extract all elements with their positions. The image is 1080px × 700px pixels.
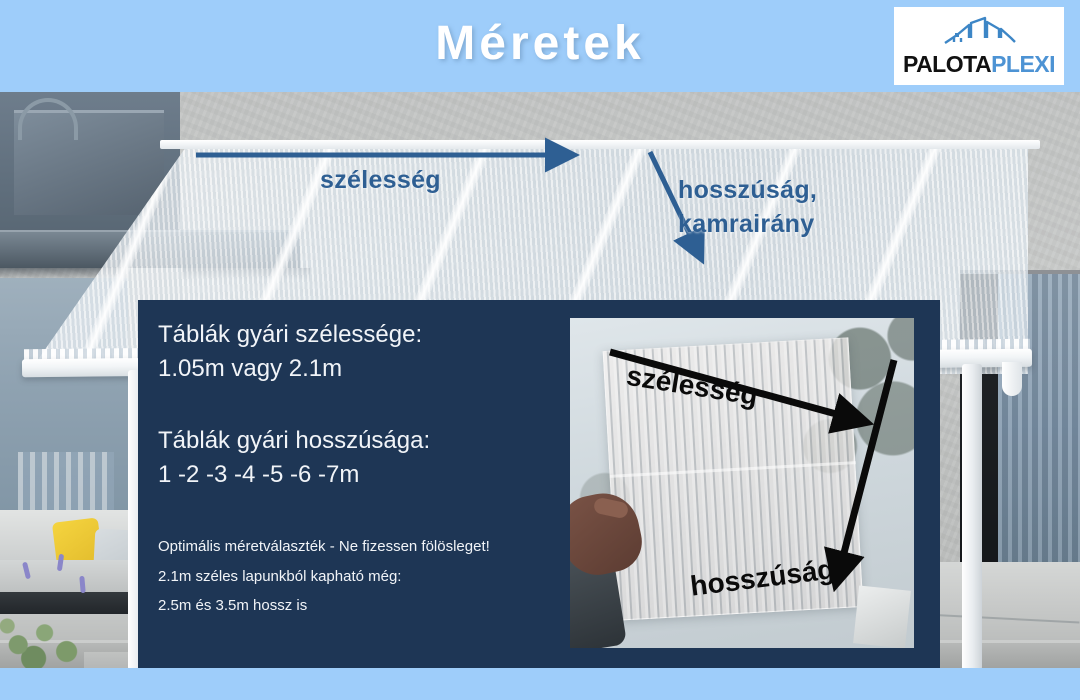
length-annotation-line1: hosszúság,	[678, 174, 817, 208]
footer-bar	[0, 668, 1080, 700]
logo-wordmark: PALOTAPLEXI	[903, 53, 1055, 76]
length-annotation-line2: kamrairány	[678, 208, 817, 242]
brand-logo: PALOTAPLEXI	[894, 7, 1064, 85]
sheet-width-value: 1.05m vagy 2.1m	[158, 352, 558, 386]
inset-length-arrow	[838, 360, 894, 576]
sheet-length-value: 1 -2 -3 -4 -5 -6 -7m	[158, 458, 558, 492]
sheet-length-heading: Táblák gyári hosszúsága:	[158, 424, 558, 458]
inset-sheet-photo: szélesség hosszúság	[570, 318, 914, 648]
logo-word-dark: PALOTA	[903, 51, 991, 77]
panel-note-line3: 2.5m és 3.5m hossz is	[158, 591, 558, 620]
length-annotation-label: hosszúság, kamrairány	[678, 174, 817, 242]
panel-text-block: Táblák gyári szélessége: 1.05m vagy 2.1m…	[158, 316, 558, 620]
inset-arrows	[570, 318, 914, 648]
info-panel: Táblák gyári szélessége: 1.05m vagy 2.1m…	[138, 300, 940, 668]
sheet-width-heading: Táblák gyári szélessége:	[158, 318, 558, 352]
text-spacer	[158, 386, 558, 422]
logo-word-blue: PLEXI	[991, 51, 1055, 77]
infographic-page: Méretek PALOTAPLEXI	[0, 0, 1080, 700]
building-roof-icon	[941, 16, 1017, 52]
panel-note-line2: 2.1m széles lapunkból kapható még:	[158, 562, 558, 591]
panel-note-line1: Optimális méretválaszték - Ne fizessen f…	[158, 532, 558, 561]
panel-note: Optimális méretválaszték - Ne fizessen f…	[158, 532, 558, 620]
header-bar: Méretek PALOTAPLEXI	[0, 0, 1080, 92]
width-annotation-label: szélesség	[320, 166, 441, 195]
